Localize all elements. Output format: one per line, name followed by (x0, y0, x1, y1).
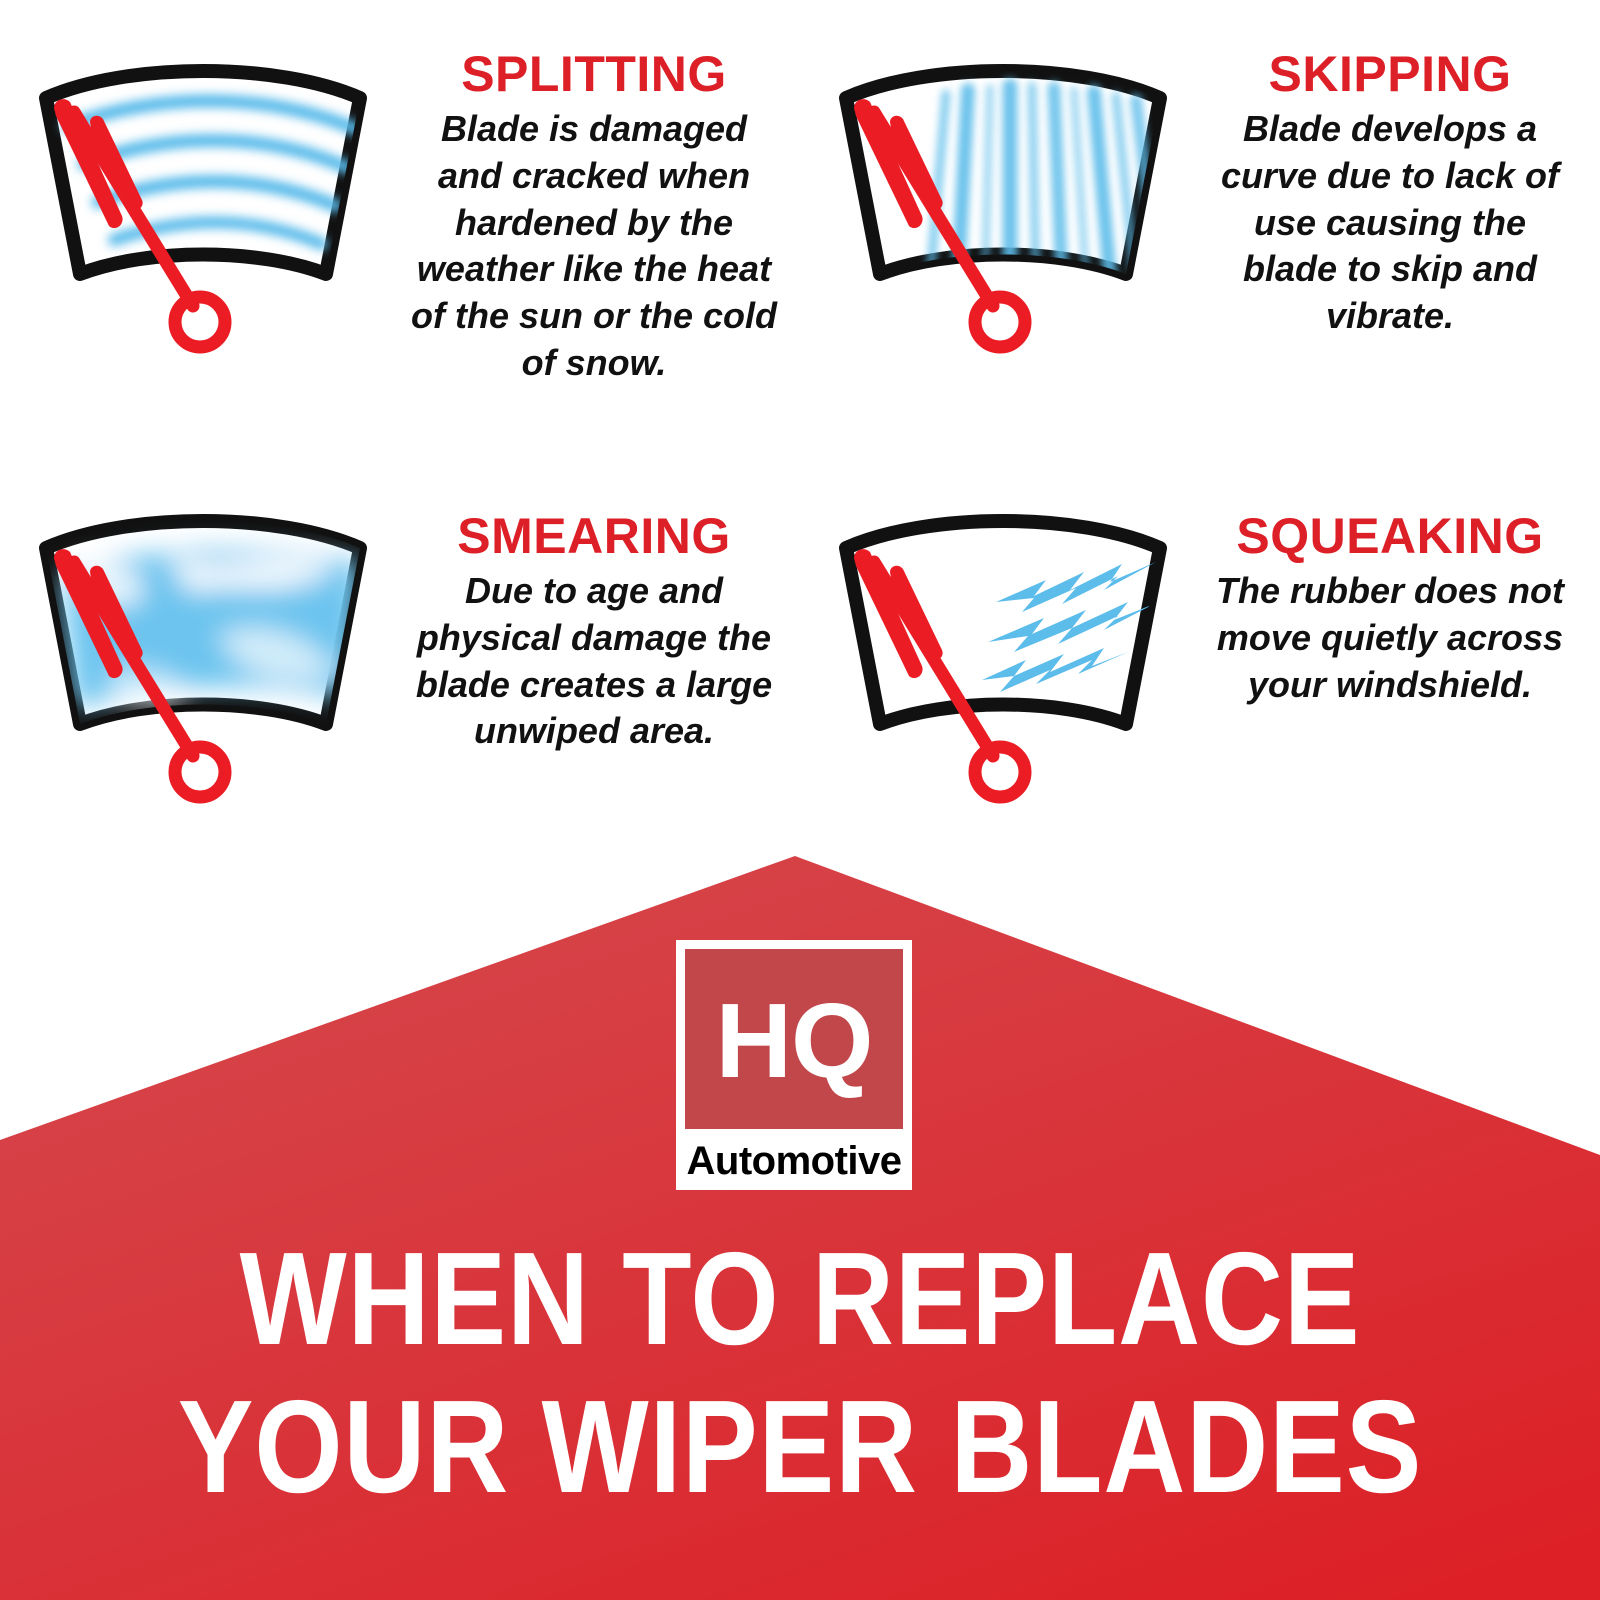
panel-description: Blade is damaged and cracked when harden… (406, 106, 782, 387)
symptom-panel-splitting: SPLITTING Blade is damaged and cracked w… (0, 0, 800, 430)
headline-line-1: WHEN TO REPLACE (112, 1225, 1488, 1373)
symptom-text-squeaking: SQUEAKING The rubber does not move quiet… (1188, 470, 1600, 708)
symptom-panel-skipping: SKIPPING Blade develops a curve due to l… (800, 0, 1600, 430)
panel-title: SMEARING (406, 510, 782, 562)
wiper-zigzag-icon (818, 484, 1188, 814)
hq-automotive-logo: HQ Automotive (676, 940, 912, 1190)
symptom-panel-grid: SPLITTING Blade is damaged and cracked w… (0, 0, 1600, 860)
panel-description: The rubber does not move quietly across … (1206, 568, 1574, 708)
bottom-banner: HQ Automotive WHEN TO REPLACE YOUR WIPER… (0, 840, 1600, 1600)
banner-content: HQ Automotive WHEN TO REPLACE YOUR WIPER… (0, 840, 1600, 1600)
logo-mark-text: HQ (716, 988, 873, 1094)
panel-description: Blade develops a curve due to lack of us… (1206, 106, 1574, 340)
logo-brand-name: Automotive (685, 1129, 903, 1181)
panel-title: SQUEAKING (1206, 510, 1574, 562)
headline-line-2: YOUR WIPER BLADES (112, 1373, 1488, 1521)
panel-title: SPLITTING (406, 48, 782, 100)
symptom-text-skipping: SKIPPING Blade develops a curve due to l… (1188, 0, 1600, 340)
wiper-smudge-icon (18, 484, 388, 814)
symptom-panel-smearing: SMEARING Due to age and physical damage … (0, 470, 800, 900)
symptom-text-smearing: SMEARING Due to age and physical damage … (388, 470, 800, 755)
wiper-arcs-icon (18, 34, 388, 364)
wiper-streaks-icon (818, 34, 1188, 364)
symptom-text-splitting: SPLITTING Blade is damaged and cracked w… (388, 0, 800, 387)
panel-title: SKIPPING (1206, 48, 1574, 100)
headline: WHEN TO REPLACE YOUR WIPER BLADES (0, 1225, 1600, 1521)
logo-mark-square: HQ (685, 949, 903, 1129)
symptom-panel-squeaking: SQUEAKING The rubber does not move quiet… (800, 470, 1600, 900)
panel-description: Due to age and physical damage the blade… (406, 568, 782, 755)
